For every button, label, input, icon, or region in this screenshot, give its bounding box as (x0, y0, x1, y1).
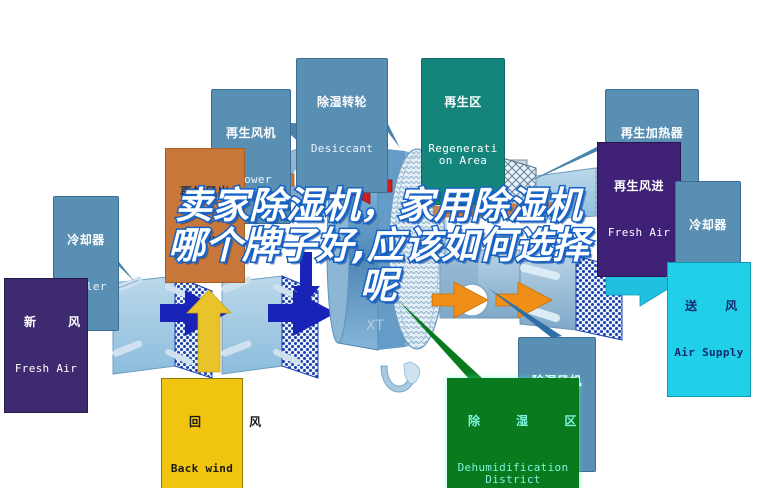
label-regen-fresh-air-in-en: Fresh Air (603, 227, 675, 239)
label-desiccant-rotor-cn: 除湿转轮 (302, 96, 382, 109)
label-air-supply-en: Air Supply (673, 347, 745, 359)
svg-text:XT: XT (366, 318, 384, 334)
label-regen-fresh-air-in-cn: 再生风进 (603, 180, 675, 193)
label-regen-exhaust-cn: 再生风出 (171, 186, 239, 199)
label-regeneration-area-cn: 再生区 (427, 96, 499, 109)
label-air-supply: 送 风 Air Supply (667, 262, 751, 397)
label-fresh-air-in-cn: 新 风 (10, 316, 82, 329)
label-regen-fresh-air-in: 再生风进 Fresh Air (597, 142, 681, 277)
label-regeneration-area: 再生区 Regenerati on Area (421, 58, 505, 205)
label-back-wind: 回 风 Back wind (161, 378, 243, 488)
label-regeneration-area-en: Regenerati on Area (427, 143, 499, 167)
label-cooler-right-cn: 冷却器 (681, 219, 735, 232)
label-regen-exhaust: 再生风出 Exhaust (165, 148, 245, 283)
label-air-supply-cn: 送 风 (673, 300, 745, 313)
dehumidifier-diagram-image: XT (0, 0, 757, 488)
label-cooler-left-cn: 冷却器 (59, 234, 113, 247)
label-regen-exhaust-en: Exhaust (171, 233, 239, 245)
label-desiccant-rotor: 除湿转轮 Desiccant (296, 58, 388, 193)
label-fresh-air-in-en: Fresh Air (10, 363, 82, 375)
label-back-wind-en: Back wind (167, 463, 237, 475)
label-fresh-air-in: 新 风 Fresh Air (4, 278, 88, 413)
label-regen-heater-cn: 再生加热器 (611, 127, 693, 140)
label-dehumidification-district: 除 湿 区 Dehumidification District (447, 378, 579, 488)
label-desiccant-rotor-en: Desiccant (302, 143, 382, 155)
label-regen-blower-cn: 再生风机 (217, 127, 285, 140)
label-dehumidification-district-en: Dehumidification District (452, 462, 574, 486)
label-dehumidification-district-cn: 除 湿 区 (452, 415, 574, 428)
label-back-wind-cn: 回 风 (167, 416, 237, 429)
